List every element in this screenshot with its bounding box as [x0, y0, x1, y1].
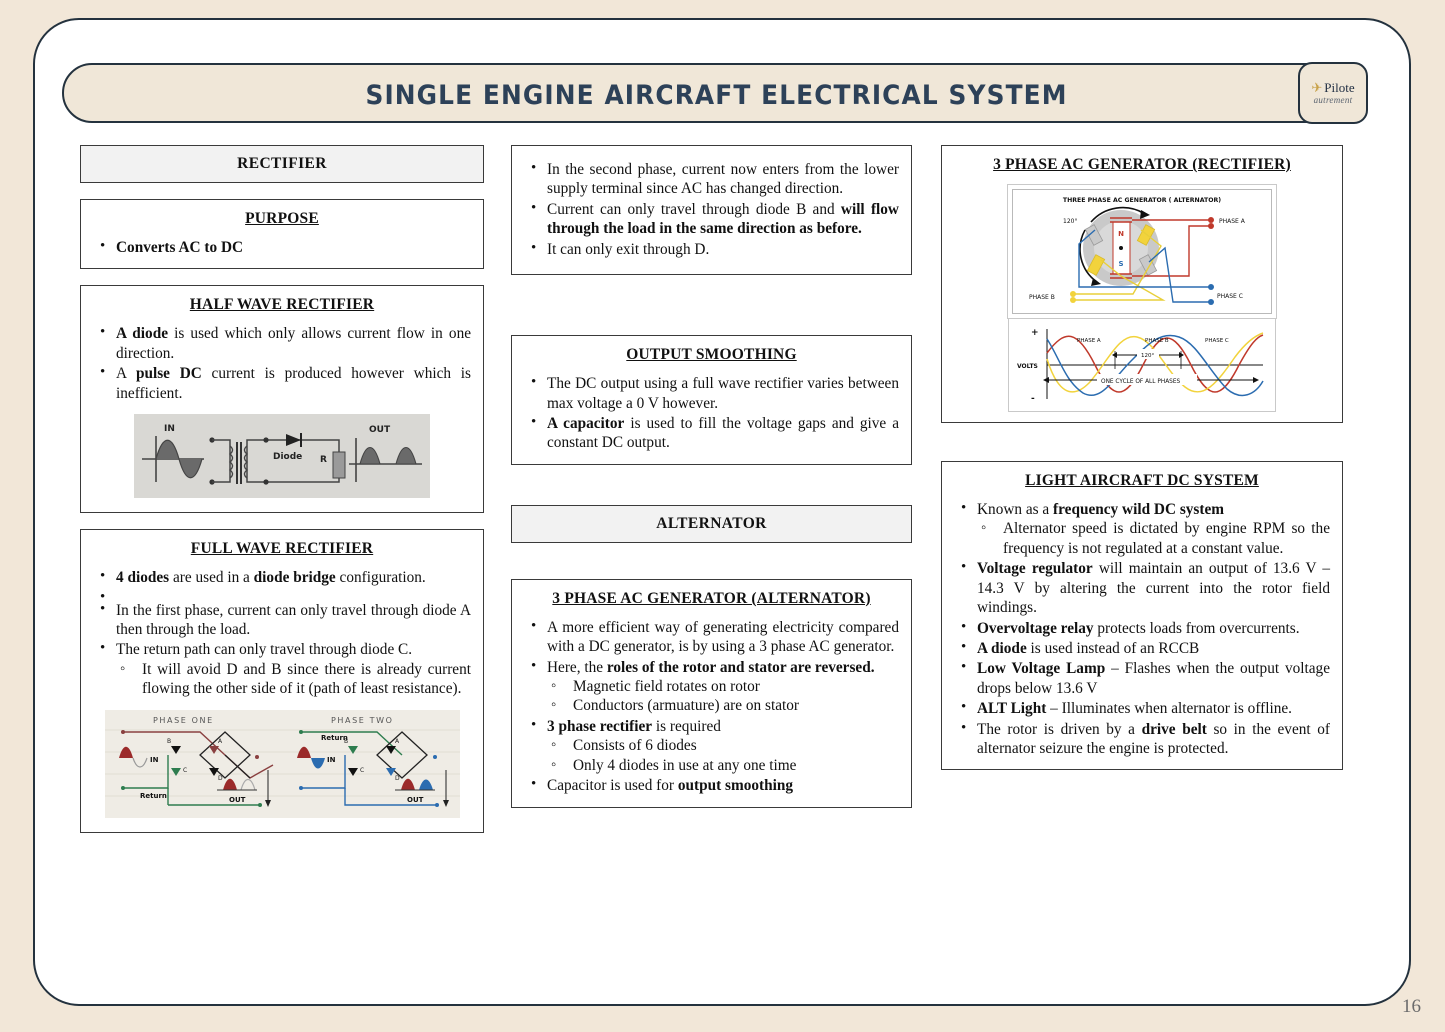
column-one: RECTIFIER PURPOSE Converts AC to DC HALF…: [80, 145, 484, 849]
three-phase-alternator-box: 3 PHASE AC GENERATOR (ALTERNATOR) A more…: [511, 579, 912, 808]
svg-text:Return: Return: [140, 792, 167, 800]
spacer-block: [511, 291, 912, 335]
page-title: SINGLE ENGINE AIRCRAFT ELECTRICAL SYSTEM: [116, 65, 1317, 125]
section-header-alternator: ALTERNATOR: [511, 505, 912, 543]
column-two: In the second phase, current now enters …: [511, 145, 912, 824]
bold-term: A capacitor: [547, 415, 624, 432]
list-item: In the first phase, current can only tra…: [93, 601, 471, 640]
full-wave-rectifier-box: FULL WAVE RECTIFIER 4 diodes are used in…: [80, 529, 484, 833]
purpose-heading: PURPOSE: [93, 210, 471, 228]
half-wave-rectifier-circuit: IN Diode: [134, 414, 430, 498]
item-text: The DC output using a full wave rectifie…: [547, 375, 899, 411]
svg-text:PHASE B: PHASE B: [1145, 338, 1169, 344]
airplane-icon: ✈: [1311, 81, 1322, 94]
output-smoothing-heading: OUTPUT SMOOTHING: [524, 346, 899, 364]
item-text: In the second phase, current now enters …: [547, 161, 899, 197]
full-wave-list: 4 diodes are used in a diode bridge conf…: [93, 568, 471, 699]
svg-text:ONE CYCLE OF ALL PHASES: ONE CYCLE OF ALL PHASES: [1101, 379, 1181, 385]
brand-logo: ✈ Pilote autrement: [1298, 62, 1368, 124]
light-aircraft-dc-list: Known as a frequency wild DC system Alte…: [954, 500, 1330, 758]
svg-text:D: D: [218, 775, 223, 782]
generator-figure-wrap: THREE PHASE AC GENERATOR ( ALTERNATOR) N…: [954, 184, 1330, 319]
item-text: is required: [652, 718, 721, 735]
item-pre: The rotor is driven by a: [977, 721, 1142, 738]
svg-text:PHASE TWO: PHASE TWO: [331, 716, 393, 725]
item-pre: Current can only travel through diode B …: [547, 201, 841, 218]
bold-term: output smoothing: [678, 777, 793, 794]
svg-text:-: -: [1031, 394, 1035, 404]
bold-term: roles of the rotor and stator are revers…: [607, 659, 875, 676]
list-item: Converts AC to DC: [93, 238, 471, 257]
svg-text:OUT: OUT: [407, 796, 424, 804]
second-phase-box: In the second phase, current now enters …: [511, 145, 912, 275]
list-item: In the second phase, current now enters …: [524, 160, 899, 199]
svg-text:IN: IN: [327, 756, 336, 764]
waveform-figure-frame: + - VOLTS PHASE A PHASE B PHASE C: [1008, 319, 1276, 412]
bold-term-2: diode bridge: [254, 569, 336, 586]
half-wave-heading: HALF WAVE RECTIFIER: [93, 296, 471, 314]
section-header-label: ALTERNATOR: [522, 515, 901, 533]
list-item: It can only exit through D.: [524, 240, 899, 259]
item-pre: Known as a: [977, 501, 1053, 518]
svg-text:THREE PHASE AC GENERATOR ( AL: THREE PHASE AC GENERATOR ( ALTERNATOR): [1063, 197, 1221, 204]
list-item: A pulse DC current is produced however w…: [93, 364, 471, 403]
three-phase-alternator-heading: 3 PHASE AC GENERATOR (ALTERNATOR): [524, 590, 899, 608]
light-aircraft-dc-heading: LIGHT AIRCRAFT DC SYSTEM: [954, 472, 1330, 490]
svg-text:PHASE A: PHASE A: [1219, 218, 1246, 225]
svg-text:+: +: [1031, 328, 1039, 338]
rectifier-sublist: Consists of 6 diodes Only 4 diodes in us…: [547, 736, 899, 775]
half-wave-figure-wrap: IN Diode: [93, 404, 471, 502]
bold-term: drive belt: [1142, 721, 1207, 738]
output-smoothing-box: OUTPUT SMOOTHING The DC output using a f…: [511, 335, 912, 465]
item-text: In the first phase, current can only tra…: [116, 602, 471, 638]
section-header-rectifier: RECTIFIER: [80, 145, 484, 183]
svg-text:Return: Return: [321, 734, 348, 742]
three-phase-waveform-chart: + - VOLTS PHASE A PHASE B PHASE C: [1013, 323, 1271, 407]
svg-text:120°: 120°: [1141, 353, 1154, 359]
rotor-stator-sublist: Magnetic field rotates on rotor Conducto…: [547, 677, 899, 716]
list-item: Conductors (armuature) are on stator: [547, 696, 899, 715]
list-item: Voltage regulator will maintain an outpu…: [954, 559, 1330, 617]
list-item: ALT Light – Illuminates when alternator …: [954, 699, 1330, 718]
svg-text:Diode: Diode: [273, 452, 302, 462]
svg-text:S: S: [1118, 260, 1123, 268]
list-item: Capacitor is used for output smoothing: [524, 776, 899, 795]
bold-term: ALT Light: [977, 700, 1046, 717]
list-item: Low Voltage Lamp – Flashes when the outp…: [954, 659, 1330, 698]
list-item: It will avoid D and B since there is alr…: [116, 660, 471, 699]
svg-text:PHASE C: PHASE C: [1217, 293, 1243, 300]
full-wave-rectifier-phases: PHASE ONE: [105, 710, 460, 818]
svg-text:R: R: [320, 455, 327, 465]
three-phase-generator-diagram: THREE PHASE AC GENERATOR ( ALTERNATOR) N…: [1012, 189, 1272, 314]
waveform-figure-wrap: + - VOLTS PHASE A PHASE B PHASE C: [954, 319, 1330, 412]
list-item: 4 diodes are used in a diode bridge conf…: [93, 568, 471, 587]
bold-term: A diode: [977, 640, 1027, 657]
section-header-label: RECTIFIER: [91, 155, 473, 173]
list-item: Here, the roles of the rotor and stator …: [524, 658, 899, 716]
frequency-wild-sublist: Alternator speed is dictated by engine R…: [977, 519, 1330, 558]
purpose-box: PURPOSE Converts AC to DC: [80, 199, 484, 269]
list-item: A capacitor is used to fill the voltage …: [524, 414, 899, 453]
item-text: It can only exit through D.: [547, 241, 709, 258]
svg-text:IN: IN: [150, 756, 159, 764]
svg-text:N: N: [1118, 230, 1124, 238]
item-pre: Here, the: [547, 659, 607, 676]
item-pre: Capacitor is used for: [547, 777, 678, 794]
full-wave-heading: FULL WAVE RECTIFIER: [93, 540, 471, 558]
full-wave-sublist: It will avoid D and B since there is alr…: [116, 660, 471, 699]
svg-text:B: B: [167, 738, 171, 745]
bold-term: Low Voltage Lamp: [977, 660, 1105, 677]
page-number: 16: [1402, 996, 1421, 1018]
svg-text:D: D: [395, 775, 400, 782]
bold-term: pulse DC: [136, 365, 202, 382]
list-item: Only 4 diodes in use at any one time: [547, 756, 899, 775]
svg-text:120°: 120°: [1063, 218, 1077, 225]
svg-text:C: C: [360, 767, 364, 774]
item-pre: A: [116, 365, 136, 382]
half-wave-rectifier-box: HALF WAVE RECTIFIER A diode is used whic…: [80, 285, 484, 513]
item-text: – Illuminates when alternator is offline…: [1046, 700, 1292, 717]
light-aircraft-dc-box: LIGHT AIRCRAFT DC SYSTEM Known as a freq…: [941, 461, 1343, 770]
item-text: protects loads from overcurrents.: [1094, 620, 1300, 637]
svg-text:OUT: OUT: [229, 796, 246, 804]
half-wave-list: A diode is used which only allows curren…: [93, 324, 471, 403]
generator-figure-frame: THREE PHASE AC GENERATOR ( ALTERNATOR) N…: [1007, 184, 1277, 319]
item-text: A more efficient way of generating elect…: [547, 619, 899, 655]
list-item: The rotor is driven by a drive belt so i…: [954, 720, 1330, 759]
item-text: is used which only allows current flow i…: [116, 325, 471, 361]
logo-subtitle: autrement: [1314, 95, 1353, 105]
list-item: 3 phase rectifier is required Consists o…: [524, 717, 899, 775]
spacer: [93, 589, 471, 600]
three-phase-alternator-list: A more efficient way of generating elect…: [524, 618, 899, 796]
bold-term: 3 phase rectifier: [547, 718, 652, 735]
list-item: Known as a frequency wild DC system Alte…: [954, 500, 1330, 558]
bold-term: frequency wild DC system: [1053, 501, 1224, 518]
bold-term: Voltage regulator: [977, 560, 1093, 577]
svg-text:PHASE ONE: PHASE ONE: [153, 716, 214, 725]
svg-text:PHASE C: PHASE C: [1205, 338, 1229, 344]
list-item: Overvoltage relay protects loads from ov…: [954, 619, 1330, 638]
list-item: The DC output using a full wave rectifie…: [524, 374, 899, 413]
list-item: Current can only travel through diode B …: [524, 200, 899, 239]
item-text: are used in a: [169, 569, 254, 586]
item-text: The return path can only travel through …: [116, 641, 412, 658]
list-item: A diode is used instead of an RCCB: [954, 639, 1330, 658]
list-item: Consists of 6 diodes: [547, 736, 899, 755]
svg-text:VOLTS: VOLTS: [1017, 363, 1038, 370]
output-smoothing-list: The DC output using a full wave rectifie…: [524, 374, 899, 453]
logo-name: Pilote: [1324, 81, 1354, 94]
purpose-item-text: Converts AC to DC: [116, 239, 243, 256]
title-banner: SINGLE ENGINE AIRCRAFT ELECTRICAL SYSTEM: [62, 63, 1367, 123]
page-root: SINGLE ENGINE AIRCRAFT ELECTRICAL SYSTEM…: [0, 0, 1445, 1032]
list-item: A more efficient way of generating elect…: [524, 618, 899, 657]
spacer-block-2: [511, 481, 912, 505]
svg-text:OUT: OUT: [369, 425, 391, 435]
svg-text:PHASE A: PHASE A: [1077, 338, 1101, 344]
svg-text:IN: IN: [164, 424, 175, 434]
svg-text:PHASE B: PHASE B: [1029, 294, 1055, 301]
list-item: Alternator speed is dictated by engine R…: [977, 519, 1330, 558]
full-wave-figure-wrap: PHASE ONE: [93, 700, 471, 822]
bold-term: 4 diodes: [116, 569, 169, 586]
svg-text:C: C: [183, 767, 187, 774]
spacer-block-3: [511, 559, 912, 579]
second-phase-list: In the second phase, current now enters …: [524, 160, 899, 259]
three-phase-rectifier-heading: 3 PHASE AC GENERATOR (RECTIFIER): [954, 156, 1330, 174]
list-item: Magnetic field rotates on rotor: [547, 677, 899, 696]
column-three: 3 PHASE AC GENERATOR (RECTIFIER) THREE P…: [941, 145, 1343, 786]
list-item: A diode is used which only allows curren…: [93, 324, 471, 363]
item-text: is used instead of an RCCB: [1027, 640, 1200, 657]
purpose-list: Converts AC to DC: [93, 238, 471, 257]
list-item: The return path can only travel through …: [93, 640, 471, 698]
item-text-2: configuration.: [336, 569, 426, 586]
spacer-block-4: [941, 439, 1343, 461]
bold-term: A diode: [116, 325, 168, 342]
logo-row: ✈ Pilote: [1311, 81, 1354, 94]
three-phase-rectifier-box: 3 PHASE AC GENERATOR (RECTIFIER) THREE P…: [941, 145, 1343, 423]
bold-term: Overvoltage relay: [977, 620, 1094, 637]
